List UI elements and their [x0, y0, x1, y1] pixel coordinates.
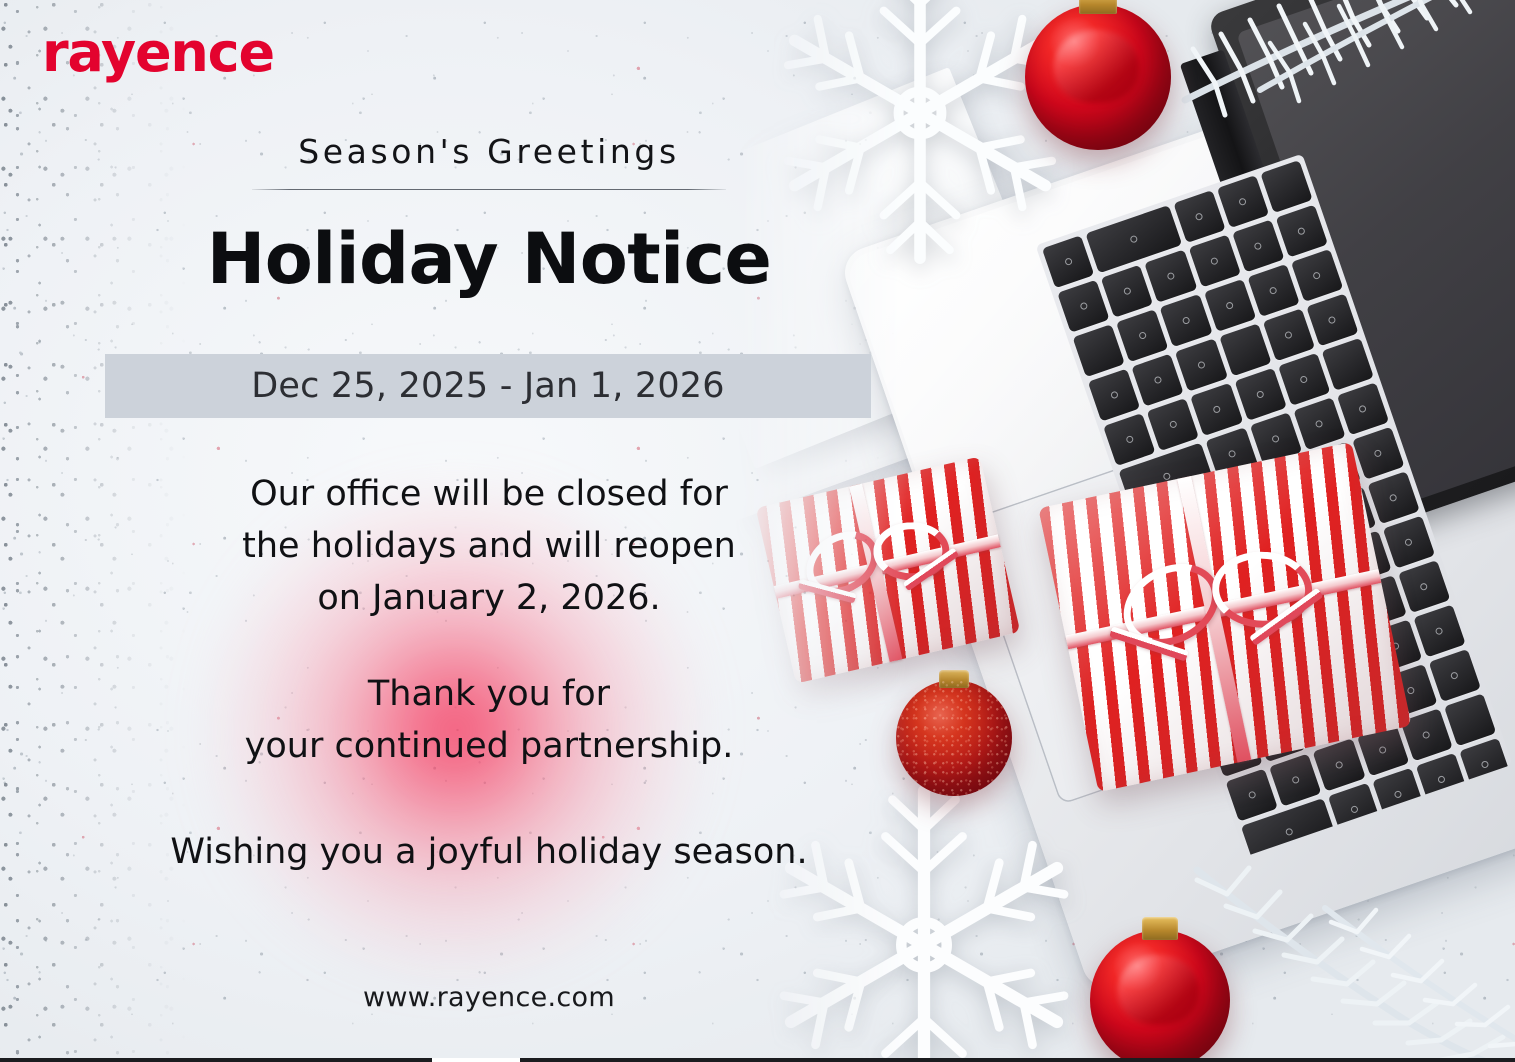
thanks-line-1: Thank you for [0, 668, 978, 720]
page-title: Holiday Notice [0, 218, 978, 300]
wish-message: Wishing you a joyful holiday season. [0, 826, 978, 878]
closure-line-3: on January 2, 2026. [0, 572, 978, 624]
rayence-logo: rayence [42, 26, 274, 80]
thanks-line-2: your continued partnership. [0, 720, 978, 772]
thanks-message: Thank you for your continued partnership… [0, 668, 978, 772]
wish-line: Wishing you a joyful holiday season. [0, 826, 978, 878]
holiday-notice-card: rayence Season's Greetings Holiday Notic… [0, 0, 1515, 1062]
footer-website-url[interactable]: www.rayence.com [0, 982, 978, 1013]
date-range-text: Dec 25, 2025 - Jan 1, 2026 [105, 354, 871, 418]
closure-line-1: Our office will be closed for [0, 468, 978, 520]
closure-message: Our office will be closed for the holida… [0, 468, 978, 624]
bottom-edge-dark-right [520, 1058, 1515, 1062]
bottom-edge-dark-left [0, 1058, 432, 1062]
header-divider [252, 189, 726, 190]
greeting-heading: Season's Greetings [0, 132, 978, 171]
closure-line-2: the holidays and will reopen [0, 520, 978, 572]
text-content-layer: rayence Season's Greetings Holiday Notic… [0, 0, 1515, 1062]
